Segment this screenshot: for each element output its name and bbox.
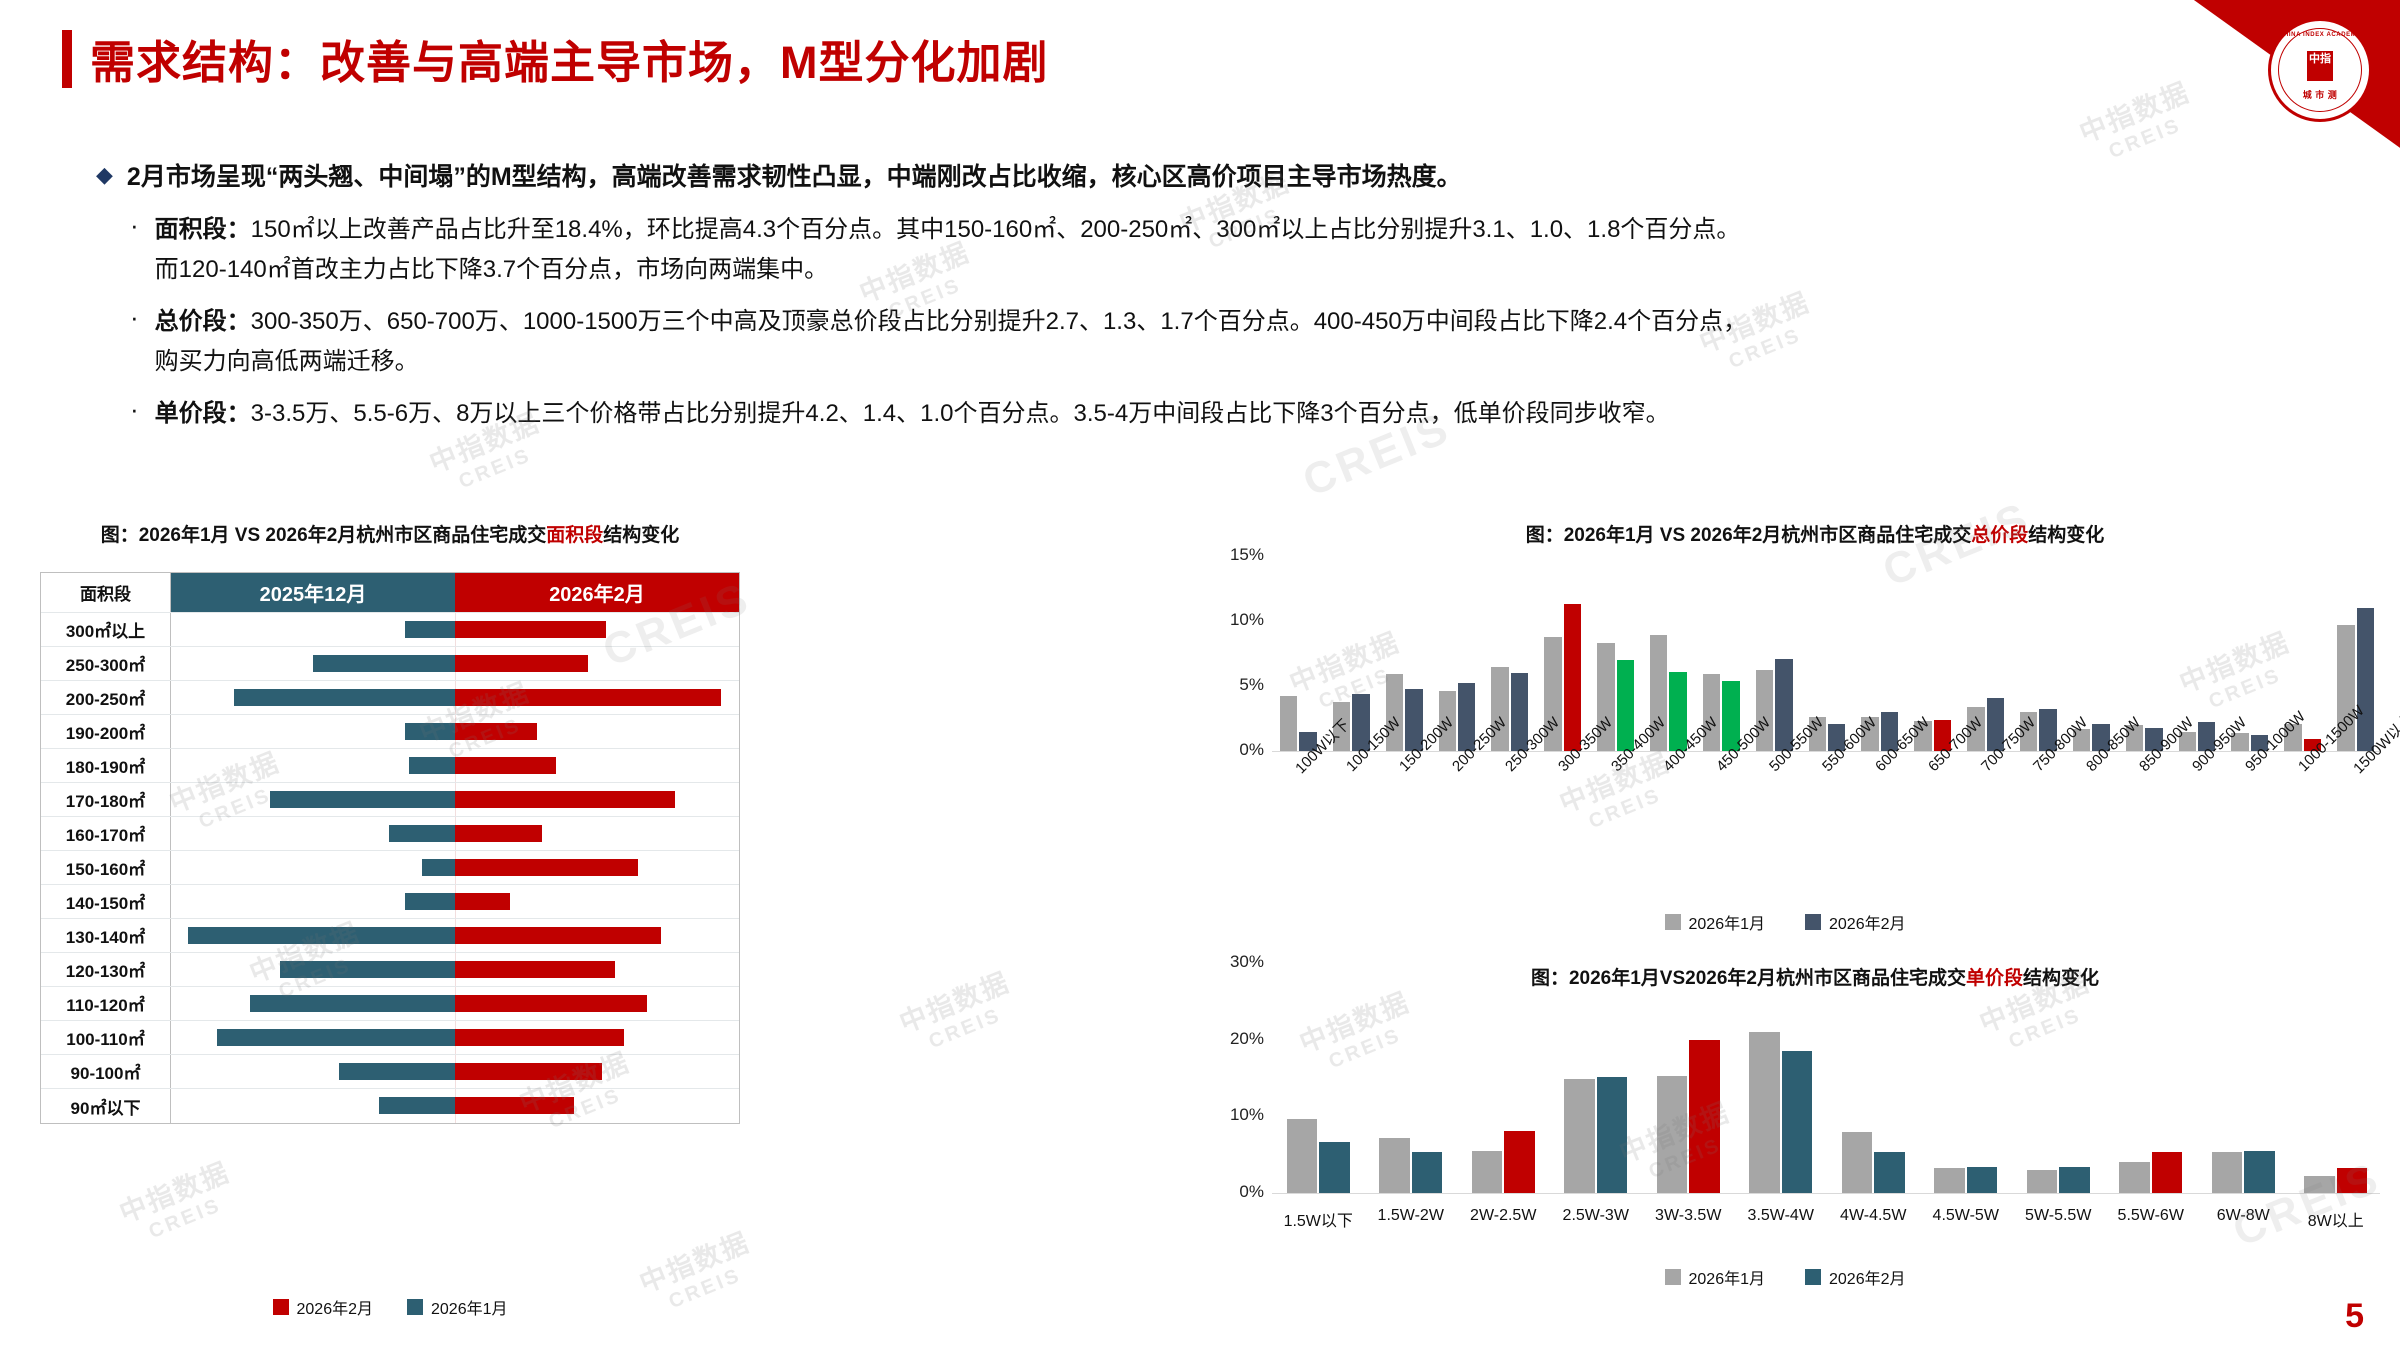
legend-label: 2026年1月 [431,1295,508,1319]
bar-2026-01 [188,927,455,944]
table-row: 200-250㎡ [41,681,739,715]
sub-bullet-total-line1: 300-350万、650-700万、1000-1500万三个中高及顶豪总价段占比… [251,308,1747,335]
bar-2026-02 [455,825,542,842]
sub-bullet-total-lead: 总价段： [155,308,251,335]
sub-bullet-unit-lead: 单价段： [155,400,251,427]
bar-2026-02 [1967,1167,1998,1193]
tornado-row-label: 130-140㎡ [41,919,171,952]
dot-bullet-icon: · [130,210,139,240]
bar-2026-01 [405,621,455,638]
bar-2026-02 [455,1097,574,1114]
bar-2026-02 [455,1063,602,1080]
bar-2026-01 [409,757,455,774]
bar-2026-01 [1657,1076,1688,1193]
bar-2026-01 [234,689,455,706]
table-row: 300㎡以上 [41,613,739,647]
x-axis-tick: 2.5W-3W [1550,1207,1643,1225]
unit-plot-area: 0%10%20%30% [1272,963,2380,1193]
bar-2026-02 [455,961,615,978]
bar-2026-01 [339,1063,455,1080]
y-axis-tick: 20% [1180,1029,1264,1049]
bar-2026-02 [455,689,721,706]
x-axis-tick: 3W-3.5W [1642,1207,1735,1225]
bar-2026-02 [2152,1152,2183,1193]
legend-swatch [407,1299,423,1315]
bar-2026-02 [455,927,661,944]
tornado-row-bars [171,783,739,816]
bar-2026-01 [1934,1168,1965,1193]
y-axis-tick: 0% [1180,1182,1264,1202]
sub-bullet-area-line1: 150㎡以上改善产品占比升至18.4%，环比提高4.3个百分点。其中150-16… [251,216,1741,243]
bar-2026-01 [1842,1132,1873,1193]
area-chart-title-highlight: 面积段 [546,525,603,546]
legend-label: 2026年2月 [1829,1265,1906,1289]
tornado-row-bars [171,681,739,714]
tornado-header-label: 面积段 [41,573,171,612]
bar-2026-02 [455,655,588,672]
legend-label: 2026年1月 [1689,1265,1766,1289]
watermark: 中指数据CREIS [2073,71,2204,172]
bar-2026-01 [379,1097,455,1114]
legend-item: 2026年2月 [1805,1265,1906,1289]
bar-2026-01 [1379,1138,1410,1193]
legend-label: 2026年2月 [297,1295,374,1319]
diamond-bullet-icon: ◆ [96,160,113,190]
x-axis-tick: 1.5W以下 [1272,1207,1365,1231]
bar-2026-02 [1597,1077,1628,1193]
bar-2026-02 [2059,1167,2090,1193]
area-chart-title-suffix: 结构变化 [603,525,679,546]
y-axis-tick: 0% [1180,740,1264,760]
table-row: 170-180㎡ [41,783,739,817]
x-axis-tick: 1.5W-2W [1365,1207,1458,1225]
bar-2026-02 [1782,1051,1813,1193]
x-axis-tick: 6W-8W [2197,1207,2290,1225]
table-row: 100-110㎡ [41,1021,739,1055]
tornado-row-bars [171,987,739,1020]
tornado-row-bars [171,715,739,748]
table-row: 110-120㎡ [41,987,739,1021]
bar-2026-01 [1287,1119,1318,1193]
main-bullet: ◆ 2月市场呈现“两头翘、中间塌”的M型结构，高端改善需求韧性凸显，中端刚改占比… [96,160,2326,194]
tornado-row-bars [171,919,739,952]
tornado-row-label: 90㎡以下 [41,1089,171,1123]
bar-2026-02 [455,791,675,808]
bar-2026-01 [2119,1162,2150,1193]
area-structure-chart: 图：2026年1月 VS 2026年2月杭州市区商品住宅成交面积段结构变化 面积… [20,520,760,1320]
page-number: 5 [2345,1297,2364,1336]
legend-swatch [1665,1269,1681,1285]
tornado-row-bars [171,613,739,646]
area-chart-title-prefix: 图：2026年1月 VS 2026年2月杭州市区商品住宅成交 [101,525,547,546]
legend-item: 2026年2月 [273,1295,374,1319]
y-axis-tick: 10% [1180,1105,1264,1125]
x-axis-tick: 4.5W-5W [1920,1207,2013,1225]
table-row: 250-300㎡ [41,647,739,681]
bar-2026-01 [1749,1032,1780,1193]
table-row: 90-100㎡ [41,1055,739,1089]
sub-bullet-total-text: 总价段：300-350万、650-700万、1000-1500万三个中高及顶豪总… [155,302,1747,382]
bar-2026-01 [405,893,455,910]
table-row: 150-160㎡ [41,851,739,885]
tornado-row-label: 90-100㎡ [41,1055,171,1088]
bar-2026-02 [1874,1152,1905,1193]
bar-2026-02 [1689,1040,1720,1193]
bar-2026-01 [2027,1170,2058,1193]
legend-item: 2026年2月 [1805,910,1906,934]
tornado-row-bars [171,817,739,850]
area-chart-title: 图：2026年1月 VS 2026年2月杭州市区商品住宅成交面积段结构变化 [20,520,760,547]
table-row: 160-170㎡ [41,817,739,851]
bar-2026-01 [280,961,455,978]
bar-2026-01 [1564,1079,1595,1193]
legend-swatch [1805,914,1821,930]
legend-swatch [1665,914,1681,930]
tornado-row-label: 150-160㎡ [41,851,171,884]
bar-2026-01 [270,791,455,808]
title-accent-bar [62,30,72,88]
page-title: 需求结构：改善与高端主导市场，M型分化加剧 [62,26,1049,91]
bar-2026-01 [389,825,455,842]
tornado-row-label: 180-190㎡ [41,749,171,782]
area-tornado-table: 面积段2025年12月2026年2月300㎡以上250-300㎡200-250㎡… [40,572,740,1124]
sub-bullet-unit: · 单价段：3-3.5万、5.5-6万、8万以上三个价格带占比分别提升4.2、1… [96,394,2326,434]
tornado-row-bars [171,851,739,884]
bar-2026-02 [455,995,647,1012]
bar-2026-02 [2244,1151,2275,1193]
bar-2026-01 [2212,1152,2243,1193]
table-row: 140-150㎡ [41,885,739,919]
y-axis-tick: 10% [1180,610,1264,630]
table-row: 90㎡以下 [41,1089,739,1123]
tornado-header-bars: 2025年12月2026年2月 [171,573,739,612]
china-index-academy-logo: CHINA INDEX ACADEMY 中指 城 市 测 [2268,18,2372,122]
table-row: 190-200㎡ [41,715,739,749]
bar-2026-01 [2304,1176,2335,1193]
watermark: 中指数据CREIS [893,961,1024,1062]
bar-2026-02 [455,859,638,876]
tornado-row-bars [171,1089,739,1123]
bar-2026-02 [455,1029,624,1046]
total-chart-title-highlight: 总价段 [1971,525,2028,546]
tornado-row-label: 200-250㎡ [41,681,171,714]
bar-2026-02 [455,621,606,638]
logo-en-text: CHINA INDEX ACADEMY [2271,32,2369,38]
tornado-row-bars [171,885,739,918]
sub-bullet-area-line2: 而120-140㎡首改主力占比下降3.7个百分点，市场向两端集中。 [155,256,828,283]
tornado-row-label: 300㎡以上 [41,613,171,646]
tornado-header-right: 2026年2月 [455,573,739,612]
total-chart-title: 图：2026年1月 VS 2026年2月杭州市区商品住宅成交总价段结构变化 [1240,520,2390,547]
y-axis-tick: 15% [1180,545,1264,565]
tornado-row-label: 190-200㎡ [41,715,171,748]
bar-2026-01 [217,1029,455,1046]
total-chart-title-suffix: 结构变化 [2028,525,2104,546]
sub-bullet-total-line2: 购买力向高低两端迁移。 [155,348,419,375]
total-chart-title-prefix: 图：2026年1月 VS 2026年2月杭州市区商品住宅成交 [1526,525,1972,546]
bar-2026-01 [250,995,455,1012]
bar-2026-02 [1319,1142,1350,1193]
tornado-row-label: 100-110㎡ [41,1021,171,1054]
unit-chart-legend: 2026年1月2026年2月 [1180,1265,2390,1289]
total-price-structure-chart: 图：2026年1月 VS 2026年2月杭州市区商品住宅成交总价段结构变化 0%… [1180,520,2390,950]
bar-2026-01 [422,859,455,876]
table-row: 120-130㎡ [41,953,739,987]
dot-bullet-icon: · [130,394,139,424]
area-chart-legend: 2026年2月2026年1月 [20,1295,760,1319]
unit-price-structure-chart: 图：2026年1月VS2026年2月杭州市区商品住宅成交单价段结构变化 0%10… [1180,945,2390,1335]
tornado-row-bars [171,953,739,986]
y-axis-tick: 5% [1180,675,1264,695]
tornado-row-label: 170-180㎡ [41,783,171,816]
y-axis-tick: 30% [1180,952,1264,972]
bar-2026-02 [455,723,537,740]
x-axis-tick: 4W-4.5W [1827,1207,1920,1225]
bar-2026-01 [405,723,455,740]
bar-2026-02 [455,757,556,774]
x-axis-tick: 8W以上 [2290,1207,2383,1231]
tornado-row-label: 250-300㎡ [41,647,171,680]
tornado-row-bars [171,1055,739,1088]
sub-bullet-unit-line1: 3-3.5万、5.5-6万、8万以上三个价格带占比分别提升4.2、1.4、1.0… [251,400,1670,427]
dot-bullet-icon: · [130,302,139,332]
x-axis-tick: 2W-2.5W [1457,1207,1550,1225]
tornado-header-row: 面积段2025年12月2026年2月 [41,573,739,613]
x-axis-tick: 5W-5.5W [2012,1207,2105,1225]
bar-2026-02 [455,893,510,910]
main-bullet-text: 2月市场呈现“两头翘、中间塌”的M型结构，高端改善需求韧性凸显，中端刚改占比收缩… [127,160,1462,194]
tornado-row-bars [171,647,739,680]
bar-2026-02 [1564,604,1581,751]
legend-item: 2026年1月 [1665,1265,1766,1289]
sub-bullet-area-text: 面积段：150㎡以上改善产品占比升至18.4%，环比提高4.3个百分点。其中15… [155,210,1741,290]
bar-2026-02 [1617,660,1634,751]
table-row: 130-140㎡ [41,919,739,953]
tornado-header-left: 2025年12月 [171,573,455,612]
tornado-row-label: 140-150㎡ [41,885,171,918]
x-axis-tick: 3.5W-4W [1735,1207,1828,1225]
bar-2026-01 [1472,1151,1503,1193]
table-row: 180-190㎡ [41,749,739,783]
bar-2026-01 [1280,696,1297,751]
bullet-list: ◆ 2月市场呈现“两头翘、中间塌”的M型结构，高端改善需求韧性凸显，中端刚改占比… [96,160,2326,446]
logo-cn-text: 城 市 测 [2271,88,2369,101]
sub-bullet-area: · 面积段：150㎡以上改善产品占比升至18.4%，环比提高4.3个百分点。其中… [96,210,2326,290]
logo-seal-mark: 中指 [2307,51,2333,81]
x-axis-tick: 5.5W-6W [2105,1207,2198,1225]
legend-item: 2026年1月 [1665,910,1766,934]
legend-label: 2026年1月 [1689,910,1766,934]
tornado-row-label: 110-120㎡ [41,987,171,1020]
legend-item: 2026年1月 [407,1295,508,1319]
total-chart-legend: 2026年1月2026年2月 [1180,910,2390,934]
tornado-row-label: 120-130㎡ [41,953,171,986]
legend-swatch [273,1299,289,1315]
bar-2026-02 [1412,1152,1443,1193]
bar-2026-02 [2337,1168,2368,1193]
tornado-row-bars [171,749,739,782]
bar-2026-02 [1504,1131,1535,1193]
tornado-row-label: 160-170㎡ [41,817,171,850]
title-text: 需求结构：改善与高端主导市场，M型分化加剧 [90,26,1049,91]
sub-bullet-total: · 总价段：300-350万、650-700万、1000-1500万三个中高及顶… [96,302,2326,382]
bar-2026-01 [313,655,455,672]
sub-bullet-area-lead: 面积段： [155,216,251,243]
legend-label: 2026年2月 [1829,910,1906,934]
legend-swatch [1805,1269,1821,1285]
bar-2026-02 [2357,608,2374,751]
tornado-row-bars [171,1021,739,1054]
x-axis-baseline [1272,1193,2380,1194]
sub-bullet-unit-text: 单价段：3-3.5万、5.5-6万、8万以上三个价格带占比分别提升4.2、1.4… [155,394,1670,434]
